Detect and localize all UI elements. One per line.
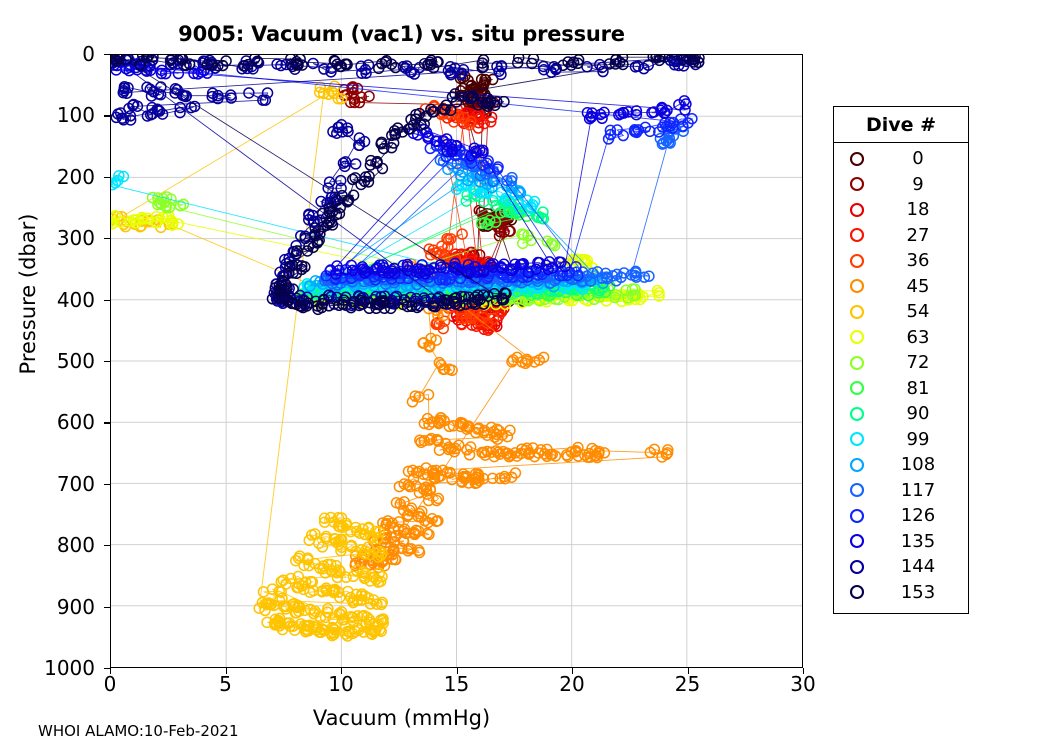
legend-marker-circle-icon <box>834 328 880 346</box>
y-tick-mark <box>104 54 110 55</box>
legend-title: Dive # <box>834 107 968 143</box>
legend-entry-label: 54 <box>880 301 968 322</box>
legend-entry-label: 135 <box>880 531 968 552</box>
x-tick-label: 15 <box>427 672 487 696</box>
y-tick-mark <box>104 361 110 362</box>
legend-entry[interactable]: 117 <box>834 478 968 504</box>
x-tick-label: 5 <box>196 672 256 696</box>
legend-entry[interactable]: 135 <box>834 529 968 555</box>
y-tick-mark <box>104 484 110 485</box>
legend-entry-label: 45 <box>880 276 968 297</box>
y-axis-label: Pressure (dbar) <box>16 44 40 544</box>
legend-entry-label: 153 <box>880 582 968 603</box>
legend-entry-label: 144 <box>880 556 968 577</box>
series-dive-54 <box>111 81 388 641</box>
x-tick-mark <box>457 668 458 674</box>
legend-marker-circle-icon <box>834 379 880 397</box>
x-tick-label: 10 <box>311 672 371 696</box>
y-tick-label: 300 <box>0 226 95 250</box>
legend-entry[interactable]: 99 <box>834 427 968 453</box>
legend-entry[interactable]: 54 <box>834 299 968 325</box>
legend-marker-circle-icon <box>834 354 880 372</box>
legend-entry-label: 18 <box>880 199 968 220</box>
legend-entry-label: 90 <box>880 403 968 424</box>
legend-marker-circle-icon <box>834 226 880 244</box>
legend-entry[interactable]: 27 <box>834 223 968 249</box>
legend-marker-circle-icon <box>834 405 880 423</box>
y-tick-mark <box>104 545 110 546</box>
legend-entry-label: 99 <box>880 429 968 450</box>
x-tick-label: 25 <box>658 672 718 696</box>
y-tick-label: 0 <box>0 42 95 66</box>
data-series-layer <box>111 55 802 667</box>
y-tick-label: 900 <box>0 595 95 619</box>
legend-marker-circle-icon <box>834 430 880 448</box>
y-tick-label: 500 <box>0 349 95 373</box>
y-tick-mark <box>104 607 110 608</box>
y-tick-mark <box>104 422 110 423</box>
legend-marker-circle-icon <box>834 583 880 601</box>
y-tick-mark <box>104 177 110 178</box>
x-tick-mark <box>341 668 342 674</box>
legend-entry-label: 72 <box>880 352 968 373</box>
legend-entry-label: 63 <box>880 327 968 348</box>
x-tick-mark <box>572 668 573 674</box>
y-tick-mark <box>104 238 110 239</box>
series-dive-135 <box>111 57 691 278</box>
legend-entry[interactable]: 0 <box>834 146 968 172</box>
y-tick-label: 800 <box>0 533 95 557</box>
legend-entry-label: 126 <box>880 505 968 526</box>
y-tick-label: 400 <box>0 288 95 312</box>
figure-root: 9005: Vacuum (vac1) vs. situ pressure 01… <box>0 0 1050 750</box>
y-tick-label: 200 <box>0 165 95 189</box>
legend-entry[interactable]: 45 <box>834 274 968 300</box>
legend-marker-circle-icon <box>834 558 880 576</box>
legend-entry[interactable]: 18 <box>834 197 968 223</box>
legend-entry-label: 9 <box>880 174 968 195</box>
legend-marker-circle-icon <box>834 481 880 499</box>
y-tick-label: 600 <box>0 410 95 434</box>
legend-marker-circle-icon <box>834 175 880 193</box>
legend-entry-label: 117 <box>880 480 968 501</box>
x-tick-mark <box>226 668 227 674</box>
x-tick-mark <box>803 668 804 674</box>
footer-caption: WHOI ALAMO:10-Feb-2021 <box>38 722 239 740</box>
legend-entry[interactable]: 63 <box>834 325 968 351</box>
legend-marker-circle-icon <box>834 303 880 321</box>
y-tick-label: 700 <box>0 472 95 496</box>
x-tick-label: 20 <box>542 672 602 696</box>
y-tick-mark <box>104 300 110 301</box>
x-tick-mark <box>110 668 111 674</box>
legend-entry[interactable]: 153 <box>834 580 968 606</box>
y-tick-mark <box>104 115 110 116</box>
legend-entry[interactable]: 36 <box>834 248 968 274</box>
legend-entry-label: 108 <box>880 454 968 475</box>
legend-marker-circle-icon <box>834 507 880 525</box>
legend-entry-label: 0 <box>880 148 968 169</box>
legend-entry-label: 36 <box>880 250 968 271</box>
legend-marker-circle-icon <box>834 252 880 270</box>
legend-marker-circle-icon <box>834 456 880 474</box>
legend-box: Dive # 091827364554637281909910811712613… <box>833 106 969 614</box>
plot-area <box>110 54 803 668</box>
legend-marker-circle-icon <box>834 150 880 168</box>
legend-entry[interactable]: 90 <box>834 401 968 427</box>
legend-entry[interactable]: 126 <box>834 503 968 529</box>
x-tick-mark <box>688 668 689 674</box>
legend-marker-circle-icon <box>834 201 880 219</box>
legend-entry[interactable]: 108 <box>834 452 968 478</box>
legend-marker-circle-icon <box>834 277 880 295</box>
legend-entry[interactable]: 72 <box>834 350 968 376</box>
legend-entry[interactable]: 9 <box>834 172 968 198</box>
x-tick-label: 30 <box>773 672 833 696</box>
y-tick-label: 100 <box>0 103 95 127</box>
legend-entry[interactable]: 144 <box>834 554 968 580</box>
legend-entry-list: 0918273645546372819099108117126135144153 <box>834 143 968 605</box>
legend-entry-label: 81 <box>880 378 968 399</box>
legend-marker-circle-icon <box>834 532 880 550</box>
chart-title: 9005: Vacuum (vac1) vs. situ pressure <box>0 22 803 46</box>
legend-entry-label: 27 <box>880 225 968 246</box>
x-tick-label: 0 <box>80 672 140 696</box>
legend-entry[interactable]: 81 <box>834 376 968 402</box>
